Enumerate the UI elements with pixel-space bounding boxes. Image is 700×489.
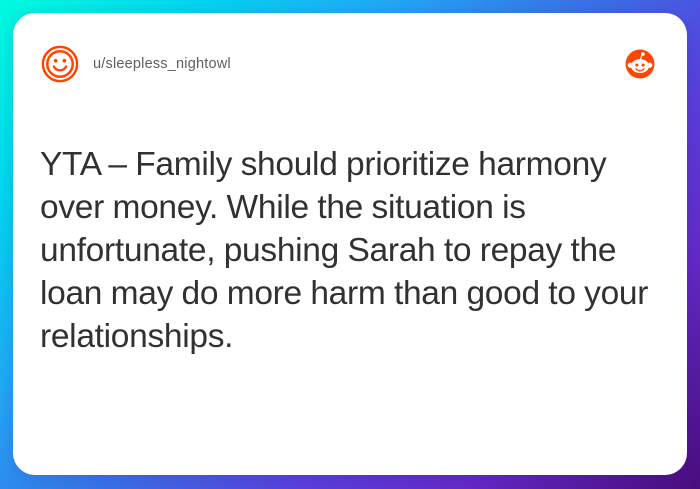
screenshot-root: u/sleepless_nightowl [0,0,700,489]
card-body: YTA – Family should prioritize harmony o… [13,91,687,475]
reddit-snoo-icon[interactable] [623,47,657,81]
reddit-comment-card: u/sleepless_nightowl [13,13,687,475]
post-text: YTA – Family should prioritize harmony o… [40,143,661,358]
smiley-face-avatar-icon[interactable] [41,45,79,83]
username-label: u/sleepless_nightowl [93,56,231,72]
card-header: u/sleepless_nightowl [13,13,687,91]
